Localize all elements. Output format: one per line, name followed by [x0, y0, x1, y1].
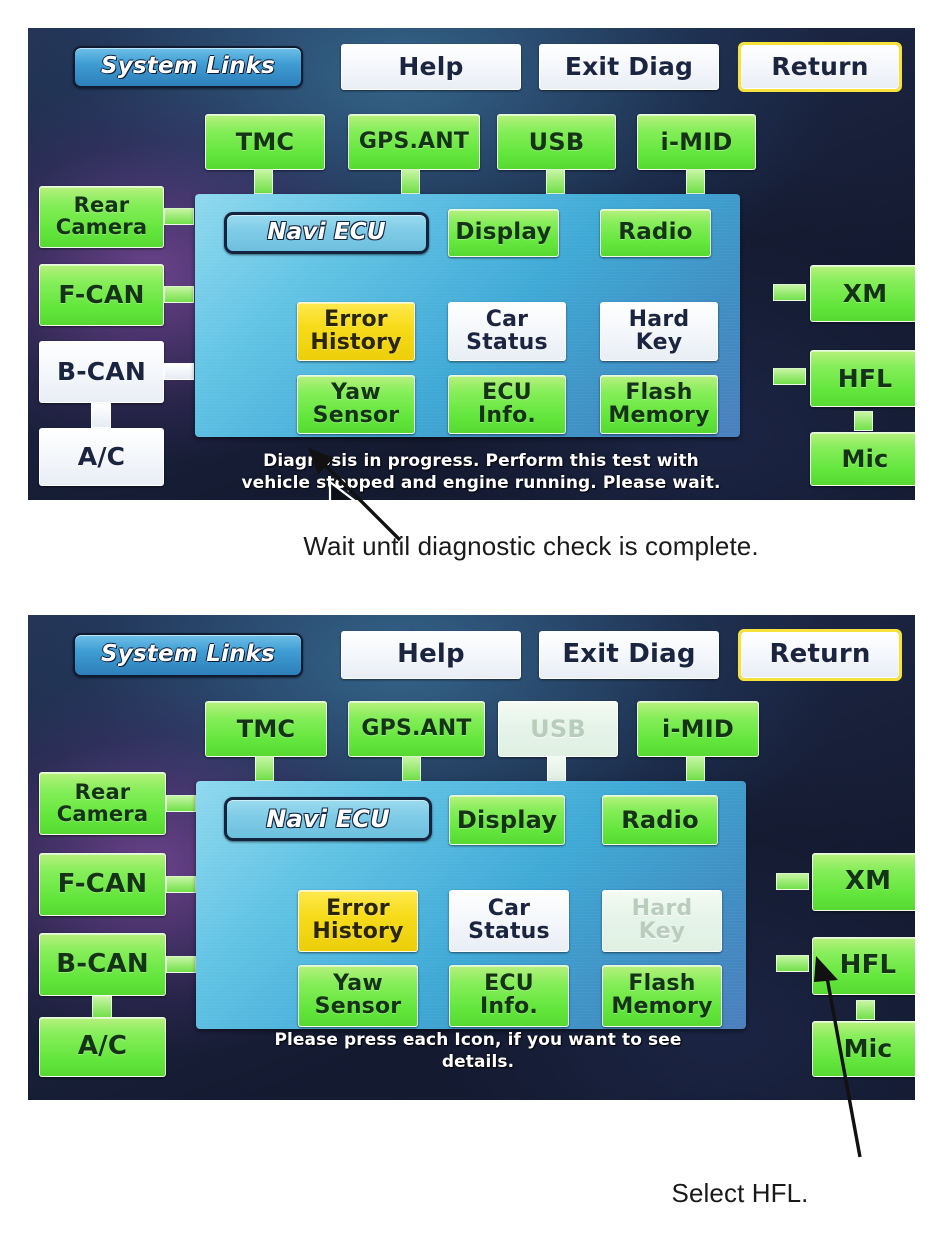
- i-mid-button[interactable]: i-MID: [637, 701, 759, 757]
- display-button[interactable]: Display: [448, 209, 559, 257]
- connector-hfl-mic: [856, 1000, 875, 1020]
- return-label: Return: [771, 54, 868, 80]
- f-can-label: F-CAN: [58, 871, 148, 898]
- gps-ant-label: GPS.ANT: [361, 718, 471, 741]
- screen-content-1: System Links Help Exit Diag Return TMC G…: [28, 28, 915, 500]
- connector-rear-camera: [164, 208, 194, 225]
- radio-button[interactable]: Radio: [602, 795, 718, 845]
- b-can-label: B-CAN: [56, 951, 149, 978]
- connector-i-mid: [686, 169, 705, 194]
- connector-xm: [776, 873, 809, 890]
- status-line-1: Diagnosis in progress. Perform this test…: [263, 451, 699, 473]
- car-status-label: CarStatus: [468, 898, 550, 944]
- a-c-button[interactable]: A/C: [39, 1017, 166, 1077]
- a-c-button[interactable]: A/C: [39, 428, 164, 486]
- display-label: Display: [457, 808, 557, 833]
- connector-tmc: [255, 756, 274, 781]
- hfl-button[interactable]: HFL: [810, 350, 915, 407]
- display-button[interactable]: Display: [449, 795, 565, 845]
- connector-i-mid: [686, 756, 705, 781]
- connector-gps-ant: [402, 756, 421, 781]
- error-history-button[interactable]: ErrorHistory: [298, 890, 418, 952]
- flash-memory-button[interactable]: FlashMemory: [602, 965, 722, 1027]
- mic-label: Mic: [842, 447, 889, 472]
- connector-b-can-a-c: [91, 403, 111, 428]
- navi-ecu-button[interactable]: Navi ECU: [224, 797, 432, 841]
- error-history-button[interactable]: ErrorHistory: [297, 302, 415, 361]
- gps-ant-button[interactable]: GPS.ANT: [348, 701, 485, 757]
- display-label: Display: [455, 221, 551, 245]
- exit-diag-button[interactable]: Exit Diag: [539, 44, 719, 90]
- i-mid-label: i-MID: [661, 130, 733, 155]
- ecu-info-label: ECUInfo.: [478, 382, 536, 428]
- system-links-label: System Links: [101, 643, 275, 667]
- yaw-sensor-button[interactable]: YawSensor: [298, 965, 418, 1027]
- rear-camera-button[interactable]: RearCamera: [39, 186, 164, 248]
- connector-hfl: [773, 368, 806, 385]
- navi-ecu-label: Navi ECU: [267, 221, 386, 245]
- ecu-info-button[interactable]: ECUInfo.: [449, 965, 569, 1027]
- hard-key-label: HardKey: [632, 898, 693, 944]
- return-button[interactable]: Return: [741, 45, 899, 89]
- tmc-label: TMC: [236, 130, 294, 155]
- i-mid-label: i-MID: [662, 717, 734, 742]
- connector-hfl: [776, 955, 809, 972]
- usb-label: USB: [529, 130, 585, 155]
- car-status-label: CarStatus: [466, 309, 548, 355]
- hfl-label: HFL: [838, 366, 893, 392]
- flash-memory-label: FlashMemory: [611, 973, 712, 1019]
- radio-button[interactable]: Radio: [600, 209, 711, 257]
- return-label: Return: [769, 641, 870, 668]
- usb-button[interactable]: USB: [498, 701, 618, 757]
- car-status-button[interactable]: CarStatus: [449, 890, 569, 952]
- b-can-button[interactable]: B-CAN: [39, 341, 164, 403]
- error-history-label: ErrorHistory: [312, 898, 403, 944]
- connector-b-can-a-c: [92, 996, 112, 1018]
- return-button[interactable]: Return: [741, 632, 899, 678]
- connector-usb: [547, 756, 566, 781]
- flash-memory-button[interactable]: FlashMemory: [600, 375, 718, 434]
- navi-ecu-label: Navi ECU: [266, 807, 390, 832]
- exit-diag-button[interactable]: Exit Diag: [539, 631, 719, 679]
- status-line-2: vehicle stopped and engine running. Plea…: [241, 473, 720, 495]
- ecu-info-button[interactable]: ECUInfo.: [448, 375, 566, 434]
- yaw-sensor-button[interactable]: YawSensor: [297, 375, 415, 434]
- usb-label: USB: [530, 717, 586, 742]
- connector-rear-camera: [166, 795, 196, 812]
- f-can-button[interactable]: F-CAN: [39, 853, 166, 916]
- gps-ant-button[interactable]: GPS.ANT: [348, 114, 480, 170]
- connector-b-can: [164, 363, 194, 380]
- radio-label: Radio: [621, 808, 699, 833]
- diagnostic-screen-select-icon: System Links Help Exit Diag Return TMC G…: [28, 615, 915, 1100]
- hfl-button[interactable]: HFL: [812, 937, 915, 995]
- connector-f-can: [164, 286, 194, 303]
- tmc-label: TMC: [237, 717, 295, 742]
- exit-diag-label: Exit Diag: [565, 54, 693, 80]
- f-can-button[interactable]: F-CAN: [39, 264, 164, 326]
- yaw-sensor-label: YawSensor: [313, 382, 400, 428]
- usb-button[interactable]: USB: [497, 114, 616, 170]
- help-button[interactable]: Help: [341, 44, 521, 90]
- connector-usb: [546, 169, 565, 194]
- a-c-label: A/C: [78, 1033, 127, 1060]
- rear-camera-label: RearCamera: [56, 195, 147, 239]
- tmc-button[interactable]: TMC: [205, 114, 325, 170]
- car-status-button[interactable]: CarStatus: [448, 302, 566, 361]
- xm-label: XM: [845, 868, 891, 895]
- radio-label: Radio: [618, 221, 692, 245]
- caption-panel-2: Select HFL.: [600, 1178, 880, 1209]
- connector-hfl-mic: [854, 411, 873, 431]
- xm-button[interactable]: XM: [810, 265, 915, 322]
- connector-tmc: [254, 169, 273, 194]
- rear-camera-label: RearCamera: [57, 782, 148, 826]
- system-links-button[interactable]: System Links: [73, 633, 303, 677]
- status-line-2: details.: [442, 1052, 514, 1074]
- f-can-label: F-CAN: [58, 282, 144, 308]
- a-c-label: A/C: [78, 444, 125, 470]
- i-mid-button[interactable]: i-MID: [637, 114, 756, 170]
- system-links-label: System Links: [101, 55, 275, 79]
- hard-key-button[interactable]: HardKey: [600, 302, 718, 361]
- xm-button[interactable]: XM: [812, 853, 915, 911]
- yaw-sensor-label: YawSensor: [315, 973, 402, 1019]
- status-message: Please press each Icon, if you want to s…: [188, 1021, 768, 1083]
- error-history-label: ErrorHistory: [310, 309, 401, 355]
- mic-button[interactable]: Mic: [812, 1021, 915, 1077]
- tmc-button[interactable]: TMC: [205, 701, 327, 757]
- navi-ecu-button[interactable]: Navi ECU: [224, 212, 429, 254]
- help-label: Help: [398, 54, 463, 80]
- connector-f-can: [166, 876, 196, 893]
- hard-key-label: HardKey: [629, 309, 690, 355]
- caption-panel-1: Wait until diagnostic check is complete.: [181, 531, 881, 562]
- diagnostic-screen-in-progress: System Links Help Exit Diag Return TMC G…: [28, 28, 915, 500]
- hfl-label: HFL: [840, 952, 897, 979]
- connector-xm: [773, 284, 806, 301]
- mic-label: Mic: [844, 1036, 893, 1062]
- screen-content-2: System Links Help Exit Diag Return TMC G…: [28, 615, 915, 1100]
- exit-diag-label: Exit Diag: [562, 641, 695, 668]
- help-button[interactable]: Help: [341, 631, 521, 679]
- b-can-label: B-CAN: [57, 359, 146, 385]
- rear-camera-button[interactable]: RearCamera: [39, 772, 166, 835]
- b-can-button[interactable]: B-CAN: [39, 933, 166, 996]
- status-line-1: Please press each Icon, if you want to s…: [274, 1030, 681, 1052]
- gps-ant-label: GPS.ANT: [359, 131, 469, 154]
- hard-key-button[interactable]: HardKey: [602, 890, 722, 952]
- flash-memory-label: FlashMemory: [608, 382, 709, 428]
- xm-label: XM: [843, 281, 888, 307]
- status-message: Diagnosis in progress. Perform this test…: [176, 446, 786, 500]
- mic-button[interactable]: Mic: [810, 432, 915, 486]
- connector-b-can: [166, 956, 196, 973]
- ecu-info-label: ECUInfo.: [480, 973, 538, 1019]
- system-links-button[interactable]: System Links: [73, 46, 303, 88]
- help-label: Help: [397, 641, 465, 668]
- connector-gps-ant: [401, 169, 420, 194]
